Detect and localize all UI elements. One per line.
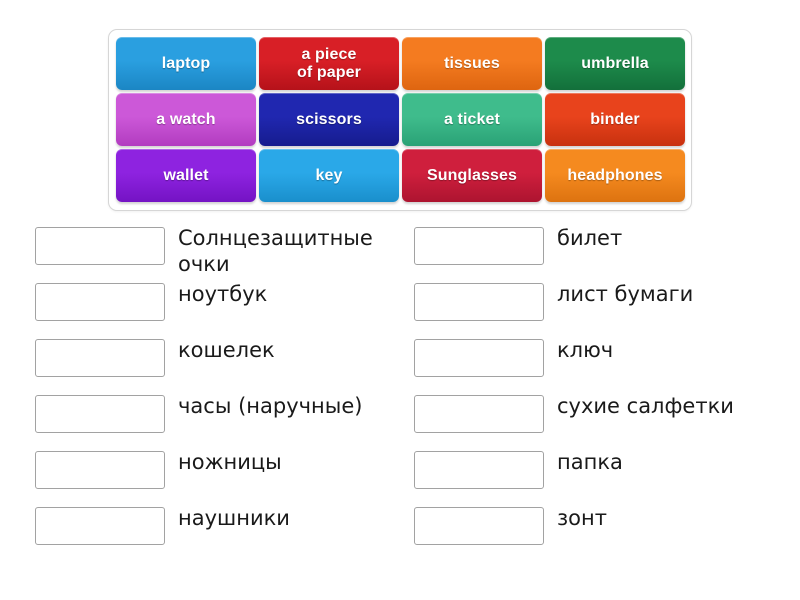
match-prompt-label: наушники	[178, 502, 290, 531]
match-column-right: билетлист бумагиключсухие салфеткипапказ…	[414, 222, 734, 558]
word-tile[interactable]: scissors	[259, 93, 399, 146]
word-tile[interactable]: Sunglasses	[402, 149, 542, 202]
match-row: зонт	[414, 502, 734, 558]
match-row: папка	[414, 446, 734, 502]
match-row: наушники	[35, 502, 413, 558]
word-tile[interactable]: headphones	[545, 149, 685, 202]
match-prompt-label: папка	[557, 446, 623, 475]
match-row: ножницы	[35, 446, 413, 502]
answer-drop-box[interactable]	[35, 227, 165, 265]
match-prompt-label: Солнцезащитные очки	[178, 222, 413, 278]
answer-drop-box[interactable]	[414, 451, 544, 489]
match-prompt-label: ключ	[557, 334, 613, 363]
word-tile[interactable]: tissues	[402, 37, 542, 90]
match-prompt-label: ноутбук	[178, 278, 267, 307]
match-row: часы (наручные)	[35, 390, 413, 446]
word-bank-grid: laptopa piece of papertissuesumbrellaa w…	[116, 37, 685, 204]
word-tile[interactable]: laptop	[116, 37, 256, 90]
match-prompt-label: ножницы	[178, 446, 282, 475]
answer-drop-box[interactable]	[414, 507, 544, 545]
answer-drop-box[interactable]	[35, 395, 165, 433]
match-prompt-label: билет	[557, 222, 622, 251]
answer-drop-box[interactable]	[35, 283, 165, 321]
answer-drop-box[interactable]	[35, 507, 165, 545]
match-column-left: Солнцезащитные очкиноутбуккошелекчасы (н…	[35, 222, 413, 558]
answer-drop-box[interactable]	[35, 451, 165, 489]
answer-drop-box[interactable]	[414, 227, 544, 265]
word-tile[interactable]: key	[259, 149, 399, 202]
answer-drop-box[interactable]	[414, 339, 544, 377]
match-prompt-label: часы (наручные)	[178, 390, 362, 419]
word-tile[interactable]: a ticket	[402, 93, 542, 146]
word-tile[interactable]: umbrella	[545, 37, 685, 90]
word-tile[interactable]: a watch	[116, 93, 256, 146]
match-row: билет	[414, 222, 734, 278]
answer-drop-box[interactable]	[414, 283, 544, 321]
match-row: лист бумаги	[414, 278, 734, 334]
word-tile[interactable]: a piece of paper	[259, 37, 399, 90]
match-row: Солнцезащитные очки	[35, 222, 413, 278]
match-row: ноутбук	[35, 278, 413, 334]
word-tile[interactable]: wallet	[116, 149, 256, 202]
match-prompt-label: сухие салфетки	[557, 390, 734, 419]
answer-drop-box[interactable]	[35, 339, 165, 377]
match-prompt-label: лист бумаги	[557, 278, 693, 307]
word-tile[interactable]: binder	[545, 93, 685, 146]
match-row: сухие салфетки	[414, 390, 734, 446]
word-bank-panel: laptopa piece of papertissuesumbrellaa w…	[108, 29, 692, 211]
match-row: ключ	[414, 334, 734, 390]
match-prompt-label: кошелек	[178, 334, 275, 363]
match-prompt-label: зонт	[557, 502, 607, 531]
answer-drop-box[interactable]	[414, 395, 544, 433]
match-row: кошелек	[35, 334, 413, 390]
